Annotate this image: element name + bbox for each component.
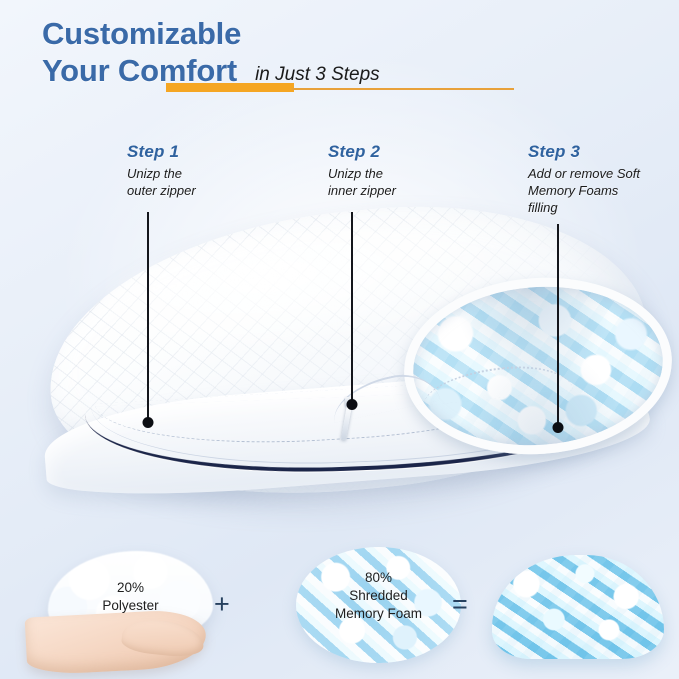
ingredient-memory-foam: 80% Shredded Memory Foam: [282, 547, 472, 671]
subtitle-underline: [292, 88, 514, 90]
step-3-description: Add or remove Soft Memory Foams filling: [528, 165, 640, 216]
step-2-description: Unizp the inner zipper: [328, 165, 396, 199]
pillow-illustration: [0, 190, 679, 520]
step-1-title: Step 1: [127, 142, 196, 162]
leader-dot-step-3: [552, 422, 563, 433]
leader-line-step-2: [351, 212, 353, 405]
step-1-description: Unizp the outer zipper: [127, 165, 196, 199]
step-callout-2: Step 2 Unizp the inner zipper: [328, 142, 396, 199]
step-3-title: Step 3: [528, 142, 640, 162]
memory-foam-label: 80% Shredded Memory Foam: [296, 569, 461, 622]
ingredient-polyester: 20% Polyester: [26, 551, 226, 671]
material-formula-row: 20% Polyester + 80% Shredded Memory Foam…: [0, 545, 679, 679]
polyester-label: 20% Polyester: [48, 579, 213, 615]
infographic-page: Customizable Your Comfort in Just 3 Step…: [0, 0, 679, 679]
page-title-line-1: Customizable: [42, 16, 662, 53]
step-callout-1: Step 1 Unizp the outer zipper: [127, 142, 196, 199]
blue-foam-pile: [492, 555, 664, 659]
header: Customizable Your Comfort in Just 3 Step…: [42, 16, 662, 89]
ingredient-result: [492, 555, 672, 671]
page-subtitle: in Just 3 Steps: [255, 64, 380, 86]
leader-line-step-1: [147, 212, 149, 423]
page-title-line-2: Your Comfort: [42, 53, 237, 90]
step-2-title: Step 2: [328, 142, 396, 162]
plus-operator-icon: +: [214, 589, 230, 620]
leader-line-step-3: [557, 224, 559, 428]
leader-dot-step-2: [346, 399, 357, 410]
title-second-row: Your Comfort in Just 3 Steps: [42, 53, 662, 90]
step-callout-3: Step 3 Add or remove Soft Memory Foams f…: [528, 142, 640, 216]
leader-dot-step-1: [142, 417, 153, 428]
